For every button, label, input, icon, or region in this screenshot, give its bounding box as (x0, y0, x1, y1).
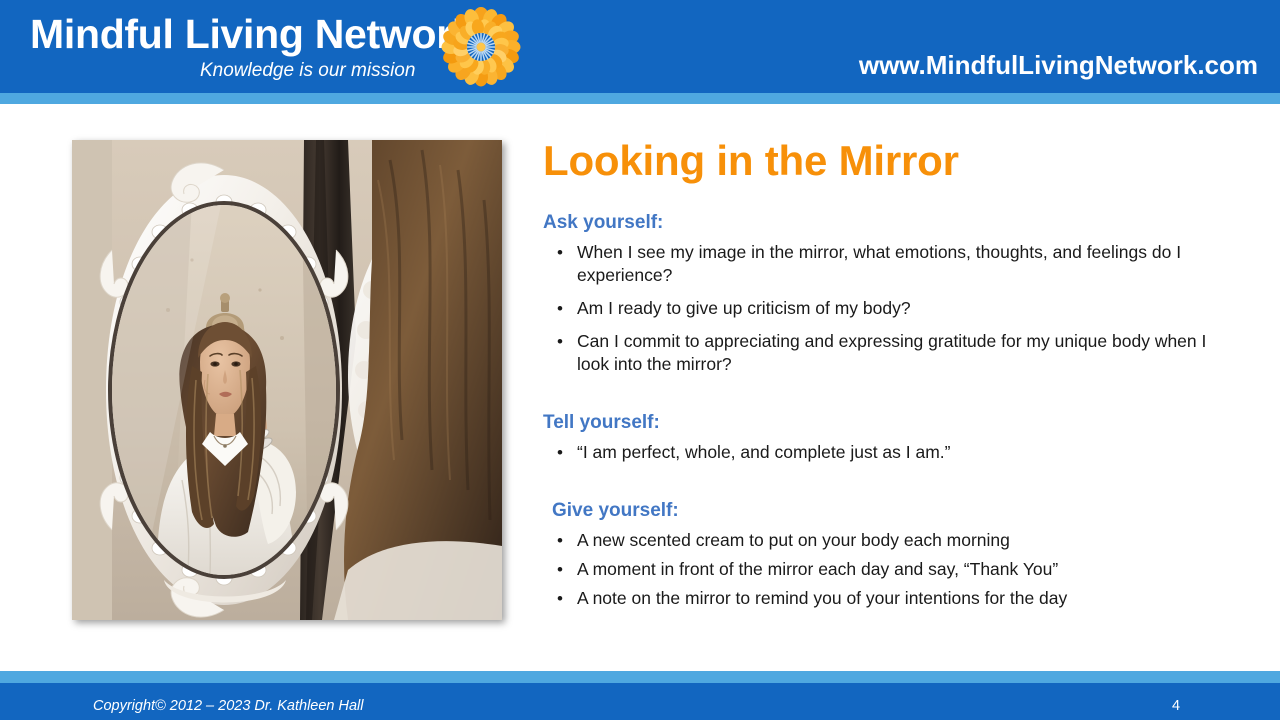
list-item-text: Am I ready to give up criticism of my bo… (577, 298, 911, 318)
list-item-text: A moment in front of the mirror each day… (577, 559, 1058, 579)
list-item-text: A note on the mirror to remind you of yo… (577, 588, 1067, 608)
list-item: • A note on the mirror to remind you of … (543, 587, 1243, 610)
bullet-dot-icon: • (557, 330, 563, 353)
list-item: • “I am perfect, whole, and complete jus… (543, 441, 1243, 464)
bullet-dot-icon: • (557, 558, 563, 581)
section-heading-give: Give yourself: (543, 498, 1243, 524)
section-ask-yourself: Ask yourself: • When I see my image in t… (543, 210, 1243, 376)
website-url[interactable]: www.MindfulLivingNetwork.com (859, 50, 1258, 80)
bullet-list-give: • A new scented cream to put on your bod… (543, 529, 1243, 610)
page-number: 4 (1172, 697, 1180, 715)
bullet-dot-icon: • (557, 441, 563, 464)
bullet-dot-icon: • (557, 529, 563, 552)
slide: Mindful Living Network Knowledge is our … (0, 0, 1280, 720)
header-banner: Mindful Living Network Knowledge is our … (0, 0, 1280, 93)
bullet-list-tell: • “I am perfect, whole, and complete jus… (543, 441, 1243, 464)
slide-content: Looking in the Mirror Ask yourself: • Wh… (543, 134, 1243, 616)
sunburst-flower-icon (437, 7, 525, 87)
section-heading-ask: Ask yourself: (543, 210, 1243, 236)
list-item: • When I see my image in the mirror, wha… (543, 241, 1243, 287)
section-heading-tell: Tell yourself: (543, 410, 1243, 436)
section-tell-yourself: Tell yourself: • “I am perfect, whole, a… (543, 410, 1243, 464)
bullet-dot-icon: • (557, 297, 563, 320)
section-spacer (543, 464, 1243, 498)
list-item-text: A new scented cream to put on your body … (577, 530, 1010, 550)
list-item: • A moment in front of the mirror each d… (543, 558, 1243, 581)
header-accent-band (0, 93, 1280, 104)
section-spacer (543, 376, 1243, 410)
list-item: • Am I ready to give up criticism of my … (543, 297, 1243, 320)
list-item-text: Can I commit to appreciating and express… (577, 331, 1206, 374)
section-give-yourself: Give yourself: • A new scented cream to … (543, 498, 1243, 610)
list-item: • Can I commit to appreciating and expre… (543, 330, 1243, 376)
list-item-text: “I am perfect, whole, and complete just … (577, 442, 951, 462)
brand-name: Mindful Living Network (30, 10, 474, 58)
mirror-reflection-photo (72, 140, 502, 620)
list-item: • A new scented cream to put on your bod… (543, 529, 1243, 552)
bullet-list-ask: • When I see my image in the mirror, wha… (543, 241, 1243, 376)
page-title: Looking in the Mirror (543, 134, 1243, 188)
bullet-dot-icon: • (557, 587, 563, 610)
copyright-text: Copyright© 2012 – 2023 Dr. Kathleen Hall (93, 697, 364, 715)
brand-tagline: Knowledge is our mission (200, 59, 415, 83)
list-item-text: When I see my image in the mirror, what … (577, 242, 1181, 285)
bullet-dot-icon: • (557, 241, 563, 264)
footer-accent-band (0, 671, 1280, 683)
